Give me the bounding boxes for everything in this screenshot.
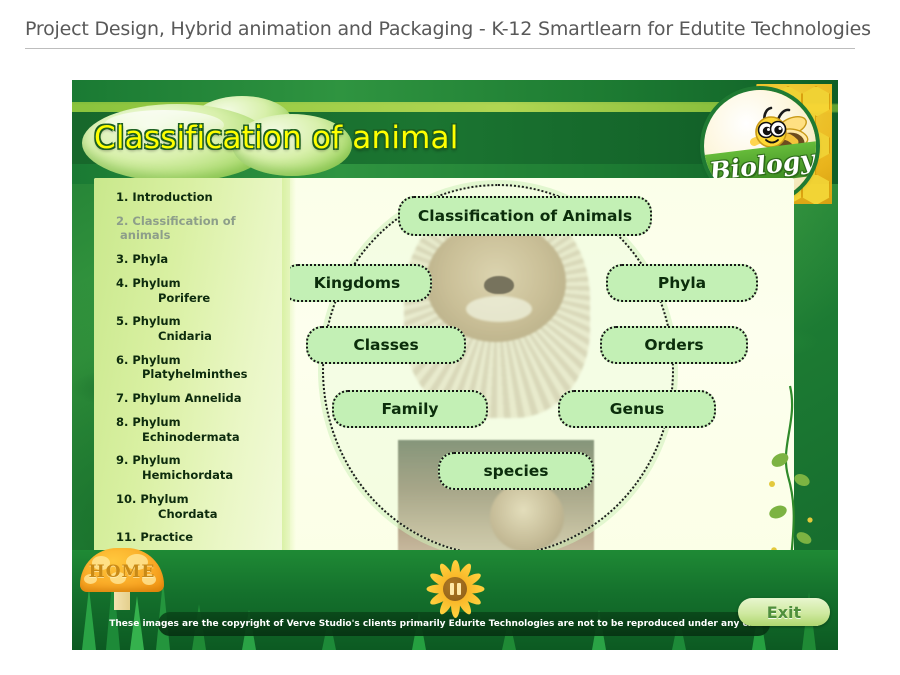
- menu-item-label-line2: Chordata: [116, 507, 291, 522]
- home-button-label: HOME: [80, 562, 164, 582]
- menu-item-phylum-chordata[interactable]: 10. Phylum Chordata: [116, 492, 291, 521]
- menu-item-label: 3. Phyla: [116, 252, 168, 266]
- node-species[interactable]: species: [438, 452, 594, 490]
- menu-item-label: 1. Introduction: [116, 190, 213, 204]
- menu-item-label-line2: Porifere: [116, 291, 291, 306]
- slide-title: Classification of animal: [94, 120, 459, 156]
- pause-icon: [443, 577, 467, 601]
- menu-item-classification-of-animals[interactable]: 2. Classification of animals: [116, 214, 291, 243]
- exit-button[interactable]: Exit: [738, 598, 830, 626]
- page-title: Project Design, Hybrid animation and Pac…: [25, 18, 875, 40]
- menu-item-label: 8. Phylum: [116, 415, 181, 429]
- menu-item-label-line2: Platyhelminthes: [116, 367, 291, 382]
- home-button[interactable]: HOME: [80, 548, 164, 606]
- lesson-menu-sidebar: 1. Introduction 2. Classification of ani…: [94, 178, 290, 578]
- pause-button[interactable]: [428, 562, 482, 616]
- menu-item-label-line2: Echinodermata: [116, 430, 291, 445]
- menu-item-practice[interactable]: 11. Practice: [116, 530, 291, 545]
- menu-item-phylum-echinodermata[interactable]: 8. Phylum Echinodermata: [116, 415, 291, 444]
- node-genus[interactable]: Genus: [558, 390, 716, 428]
- classification-diagram: Classification of Animals Kingdoms Phyla…: [290, 178, 794, 578]
- menu-item-label: 9. Phylum: [116, 453, 181, 467]
- menu-item-label-line2: Hemichordata: [116, 468, 291, 483]
- menu-item-label: 6. Phylum: [116, 353, 181, 367]
- node-kingdoms[interactable]: Kingdoms: [290, 264, 432, 302]
- node-phyla[interactable]: Phyla: [606, 264, 758, 302]
- menu-item-phylum-hemichordata[interactable]: 9. Phylum Hemichordata: [116, 453, 291, 482]
- menu-item-label: 5. Phylum: [116, 314, 181, 328]
- exit-button-label: Exit: [767, 603, 801, 622]
- heading-divider: [25, 48, 855, 49]
- menu-item-phylum-annelida[interactable]: 7. Phylum Annelida: [116, 391, 291, 406]
- diagram-dotted-oval: [322, 184, 674, 556]
- menu-item-label-line2: Cnidaria: [116, 329, 291, 344]
- menu-item-phylum-porifere[interactable]: 4. Phylum Porifere: [116, 276, 291, 305]
- menu-item-label: 11. Practice: [116, 530, 193, 544]
- node-classification-of-animals[interactable]: Classification of Animals: [398, 196, 652, 236]
- menu-item-introduction[interactable]: 1. Introduction: [116, 190, 291, 205]
- node-orders[interactable]: Orders: [600, 326, 748, 364]
- menu-item-label: 10. Phylum: [116, 492, 189, 506]
- node-classes[interactable]: Classes: [306, 326, 466, 364]
- menu-item-phylum-cnidaria[interactable]: 5. Phylum Cnidaria: [116, 314, 291, 343]
- copyright-text: These images are the copyright of Verve …: [109, 619, 819, 629]
- slide-header: Classification of animal: [72, 80, 838, 184]
- menu-item-label: 4. Phylum: [116, 276, 181, 290]
- slide-content-panel: 1. Introduction 2. Classification of ani…: [94, 178, 794, 578]
- menu-item-label: 2. Classification of: [116, 214, 236, 228]
- menu-item-label: 7. Phylum Annelida: [116, 391, 242, 405]
- courseware-screenshot: Classification of animal: [72, 80, 838, 650]
- menu-item-phyla[interactable]: 3. Phyla: [116, 252, 291, 267]
- node-family[interactable]: Family: [332, 390, 488, 428]
- menu-item-label-line2: animals: [116, 228, 291, 243]
- menu-item-phylum-platyhelminthes[interactable]: 6. Phylum Platyhelminthes: [116, 353, 291, 382]
- lesson-menu-list: 1. Introduction 2. Classification of ani…: [116, 190, 291, 578]
